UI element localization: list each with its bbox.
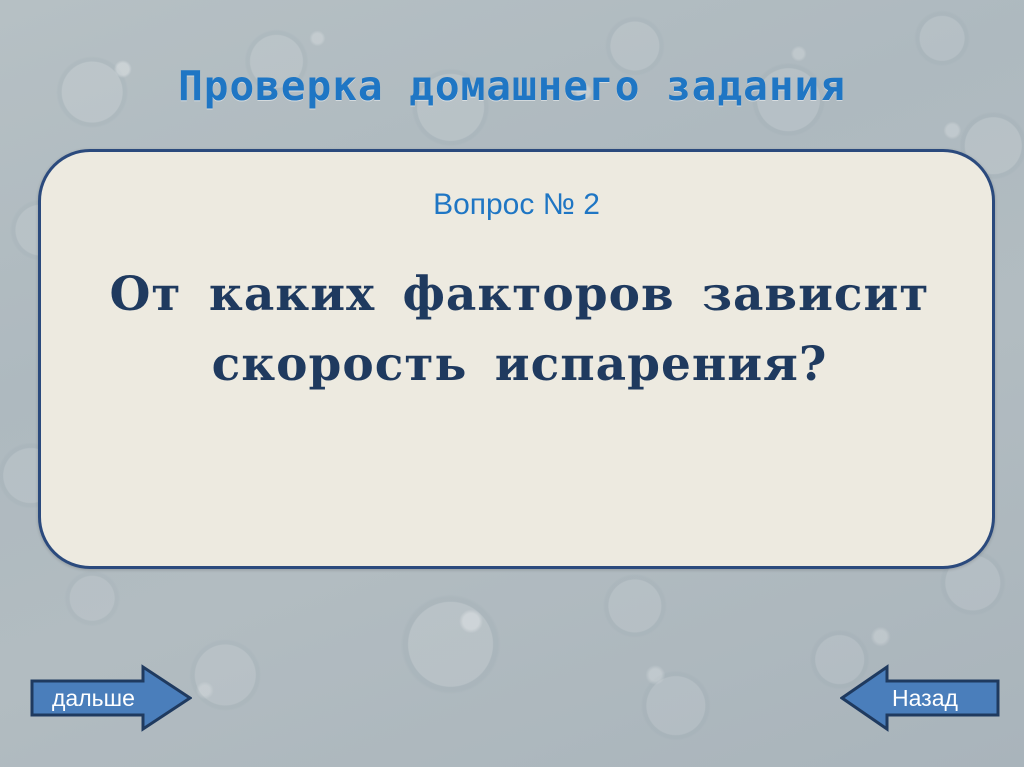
page-title: Проверка домашнего задания <box>0 62 1024 110</box>
question-number-label: Вопрос № 2 <box>41 188 992 222</box>
arrow-left-icon <box>840 664 1000 732</box>
question-text: От каких факторов зависит скорость испар… <box>101 260 938 399</box>
presentation-slide: Проверка домашнего задания Вопрос № 2 От… <box>0 0 1024 767</box>
previous-slide-button[interactable]: Назад <box>840 664 1000 732</box>
next-slide-button[interactable]: дальше <box>30 664 192 732</box>
arrow-right-icon <box>30 664 192 732</box>
question-card: Вопрос № 2 От каких факторов зависит ско… <box>38 149 995 569</box>
